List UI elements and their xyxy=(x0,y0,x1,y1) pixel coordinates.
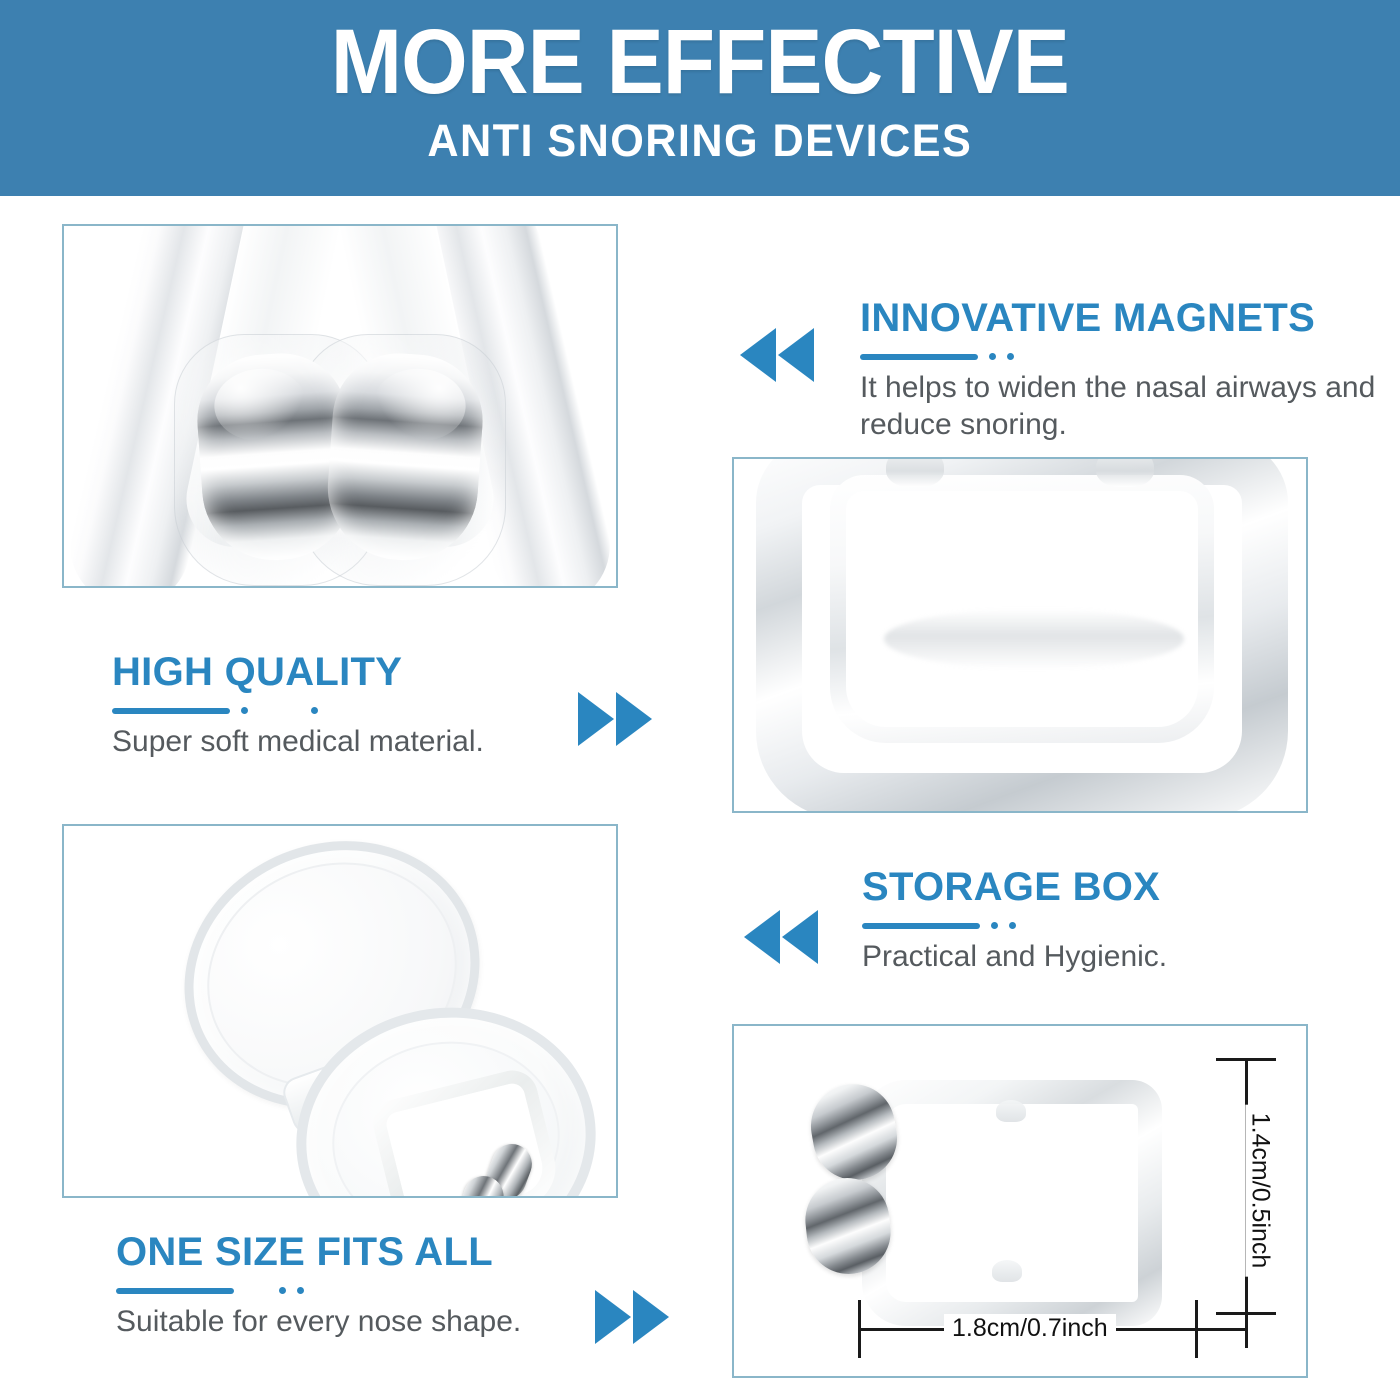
feature-description-innovative-magnets: It helps to widen the nasal airways and … xyxy=(860,369,1380,443)
divider-bar xyxy=(116,1288,234,1294)
divider-bar xyxy=(112,708,230,714)
magnet-gloss-right xyxy=(371,366,468,444)
chevron-right-icon-b xyxy=(633,1290,669,1344)
chevron-right-icon-a xyxy=(595,1290,631,1344)
divider-dot-1 xyxy=(241,707,248,714)
clip-nub-top xyxy=(996,1100,1026,1122)
double-chevron-right-icon-quality xyxy=(578,692,652,746)
feature-divider-high-quality xyxy=(112,707,582,714)
page-subtitle: ANTI SNORING DEVICES xyxy=(428,116,973,166)
chevron-left-icon-a xyxy=(744,910,780,964)
feature-description-one-size-fits-all: Suitable for every nose shape. xyxy=(116,1303,586,1340)
feature-block-storage-box: STORAGE BOX Practical and Hygienic. xyxy=(862,865,1312,975)
feature-title-innovative-magnets: INNOVATIVE MAGNETS xyxy=(860,296,1380,340)
divider-dot-1 xyxy=(991,922,998,929)
chevron-left-icon-a xyxy=(740,328,776,382)
magnet-closeup-image xyxy=(64,226,616,586)
clip-sheen xyxy=(884,609,1184,669)
clip-nub-right xyxy=(1096,457,1154,487)
product-sized-image: 1.4cm/0.5inch 1.8cm/0.7inch xyxy=(734,1026,1306,1376)
feature-title-storage-box: STORAGE BOX xyxy=(862,865,1312,909)
feature-description-storage-box: Practical and Hygienic. xyxy=(862,938,1312,975)
chevron-right-icon-b xyxy=(616,692,652,746)
feature-divider-innovative-magnets xyxy=(860,353,1380,360)
divider-dot-2 xyxy=(1007,353,1014,360)
feature-block-innovative-magnets: INNOVATIVE MAGNETS It helps to widen the… xyxy=(860,296,1380,443)
feature-title-one-size-fits-all: ONE SIZE FITS ALL xyxy=(116,1230,586,1274)
magnet-bead-right xyxy=(323,349,487,565)
divider-dot-1 xyxy=(989,353,996,360)
dimension-height-label: 1.4cm/0.5inch xyxy=(1245,1105,1274,1277)
photo-panel-magnet-closeup xyxy=(62,224,618,588)
feature-block-high-quality: HIGH QUALITY Super soft medical material… xyxy=(112,650,582,760)
feature-block-one-size-fits-all: ONE SIZE FITS ALL Suitable for every nos… xyxy=(116,1230,586,1340)
case-base-well xyxy=(320,1027,573,1198)
magnet-gloss-left xyxy=(212,366,309,444)
divider-dot-1 xyxy=(279,1287,286,1294)
dimension-width-label: 1.8cm/0.7inch xyxy=(944,1314,1116,1343)
feature-description-high-quality: Super soft medical material. xyxy=(112,723,582,760)
photo-panel-storage-case xyxy=(62,824,618,1198)
photo-panel-clip-closeup xyxy=(732,457,1308,813)
nose-clip-in-case xyxy=(368,1065,564,1198)
divider-bar xyxy=(862,923,980,929)
feature-divider-storage-box xyxy=(862,922,1312,929)
clip-closeup-image xyxy=(734,459,1306,811)
divider-dot-2 xyxy=(1009,922,1016,929)
divider-dot-2 xyxy=(297,1287,304,1294)
header-banner: MORE EFFECTIVE ANTI SNORING DEVICES xyxy=(0,0,1400,196)
double-chevron-right-icon-onesize xyxy=(595,1290,669,1344)
clip-nub-left xyxy=(886,457,944,487)
divider-bar xyxy=(860,354,978,360)
chevron-right-icon-a xyxy=(578,692,614,746)
double-chevron-left-icon-magnets xyxy=(740,328,814,382)
storage-case-image xyxy=(64,826,616,1196)
chevron-left-icon-b xyxy=(778,328,814,382)
photo-panel-product-dimensions: 1.4cm/0.5inch 1.8cm/0.7inch xyxy=(732,1024,1308,1378)
height-tick-bottom xyxy=(1216,1312,1276,1315)
divider-dot-2 xyxy=(311,707,318,714)
feature-divider-one-size-fits-all xyxy=(116,1287,586,1294)
width-tick-right xyxy=(1195,1300,1198,1358)
page-title: MORE EFFECTIVE xyxy=(331,14,1069,110)
clip-nub-bottom xyxy=(992,1260,1022,1282)
double-chevron-left-icon-storage xyxy=(744,910,818,964)
feature-title-high-quality: HIGH QUALITY xyxy=(112,650,582,694)
chevron-left-icon-b xyxy=(782,910,818,964)
